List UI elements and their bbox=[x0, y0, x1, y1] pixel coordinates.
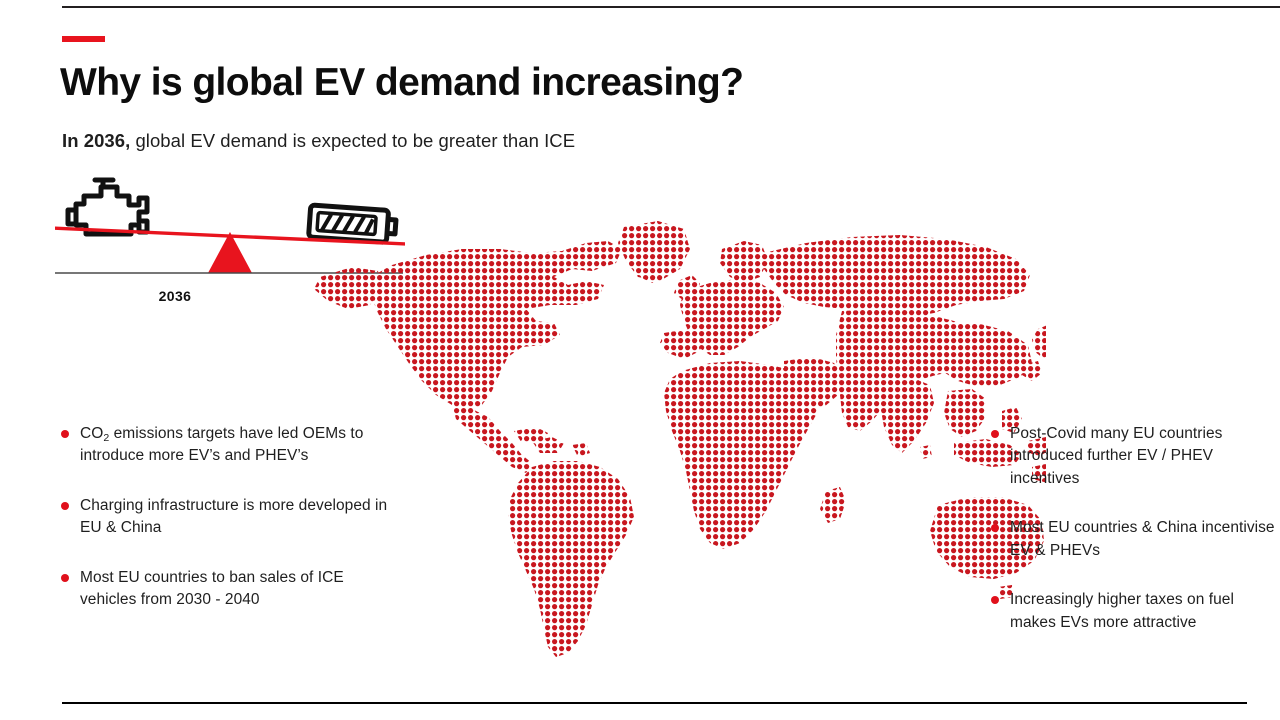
combustion-engine-icon bbox=[68, 180, 147, 234]
bullet-list-left: CO2 emissions targets have led OEMs to i… bbox=[58, 423, 388, 612]
list-item: Charging infrastructure is more develope… bbox=[58, 495, 388, 540]
bullet-text: Most EU countries & China incentivise EV… bbox=[1010, 517, 1280, 562]
list-item: Post-Covid many EU countries introduced … bbox=[988, 423, 1280, 490]
red-accent-bar bbox=[62, 36, 105, 42]
bullet-dot-icon bbox=[991, 430, 999, 438]
top-divider-rule bbox=[62, 6, 1280, 8]
bottom-divider-rule bbox=[62, 702, 1247, 704]
bullet-dot-icon bbox=[61, 430, 69, 438]
seesaw-year-label: 2036 bbox=[159, 288, 192, 304]
page-title: Why is global EV demand increasing? bbox=[60, 62, 743, 105]
bullet-list-right: Post-Covid many EU countries introduced … bbox=[988, 423, 1280, 634]
bullet-dot-icon bbox=[991, 596, 999, 604]
slide-canvas: Why is global EV demand increasing? In 2… bbox=[0, 0, 1280, 720]
bullet-dot-icon bbox=[61, 574, 69, 582]
list-item: Most EU countries & China incentivise EV… bbox=[988, 517, 1280, 562]
list-item: Increasingly higher taxes on fuel makes … bbox=[988, 589, 1280, 634]
page-subtitle-lead: In 2036, bbox=[62, 130, 130, 151]
page-subtitle: In 2036, global EV demand is expected to… bbox=[62, 130, 575, 152]
bullet-text: Most EU countries to ban sales of ICE ve… bbox=[80, 567, 388, 612]
list-item: Most EU countries to ban sales of ICE ve… bbox=[58, 567, 388, 612]
page-subtitle-rest: global EV demand is expected to be great… bbox=[130, 130, 575, 151]
bullet-dot-icon bbox=[61, 502, 69, 510]
bullet-text: CO2 emissions targets have led OEMs to i… bbox=[80, 423, 388, 468]
bullet-text: Post-Covid many EU countries introduced … bbox=[1010, 423, 1280, 490]
list-item: CO2 emissions targets have led OEMs to i… bbox=[58, 423, 388, 468]
world-map-svg bbox=[286, 205, 1046, 675]
dotted-world-map bbox=[286, 205, 1046, 675]
bullet-dot-icon bbox=[991, 524, 999, 532]
bullet-text: Charging infrastructure is more develope… bbox=[80, 495, 388, 540]
bullet-text: Increasingly higher taxes on fuel makes … bbox=[1010, 589, 1280, 634]
map-dot-layer bbox=[286, 205, 1046, 672]
